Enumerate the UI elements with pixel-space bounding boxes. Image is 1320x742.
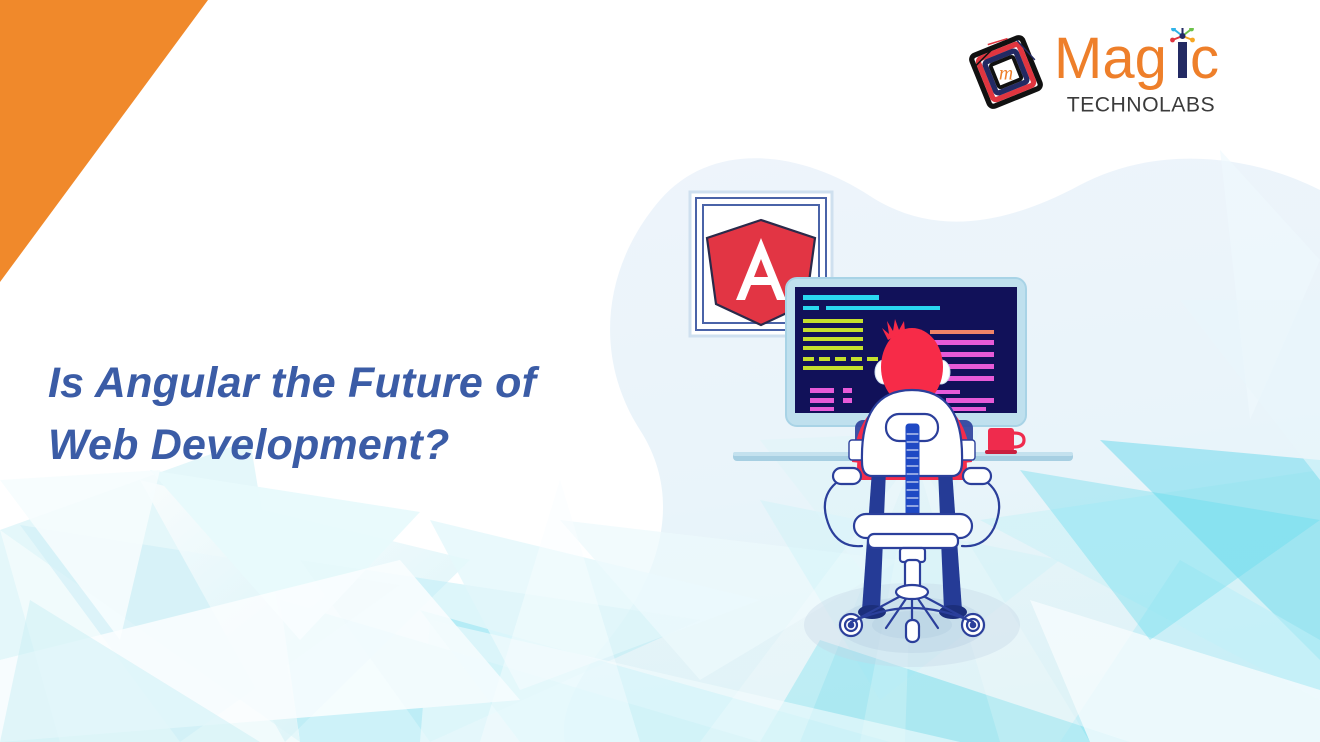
- brand-wordmark: Mag c TECHNOL: [1054, 28, 1284, 116]
- brand-name-magic: Mag c: [1054, 28, 1284, 90]
- chair-arm-left: [825, 480, 862, 546]
- chair-armpad-right: [963, 468, 991, 484]
- brand-logo[interactable]: m Mag: [968, 28, 1284, 116]
- brand-magic-text: Mag: [1054, 28, 1167, 90]
- brand-name-technolabs: TECHNOLABS: [1058, 92, 1284, 116]
- brand-c-text: c: [1190, 28, 1219, 90]
- headline-line-1: Is Angular the Future of: [48, 352, 668, 414]
- chair-armpad-left: [833, 468, 861, 484]
- logo-m-glyph: m: [999, 63, 1013, 85]
- page-title: Is Angular the Future of Web Development…: [48, 352, 668, 477]
- headline-line-2: Web Development?: [48, 414, 668, 476]
- coffee-mug: [985, 428, 1024, 454]
- banner-canvas: Is Angular the Future of Web Development…: [0, 0, 1320, 742]
- brand-technolabs-text: TECHNOLABS: [1067, 93, 1215, 116]
- magic-technolabs-logo-mark: m: [968, 32, 1044, 112]
- brand-i-stem: [1178, 42, 1187, 78]
